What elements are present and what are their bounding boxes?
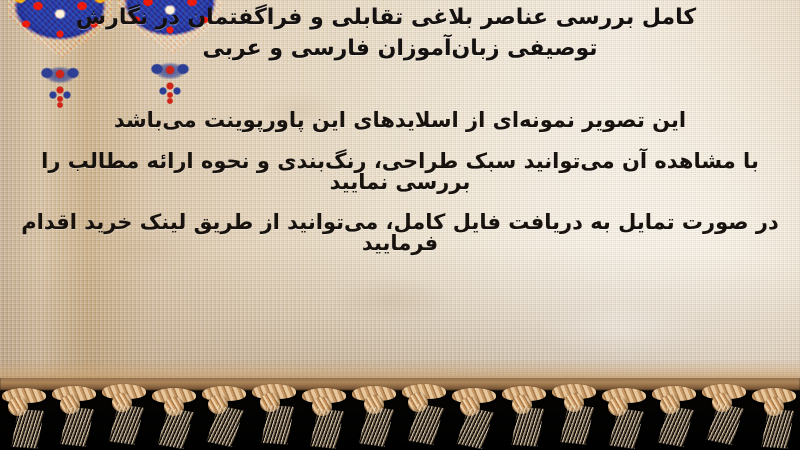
- slide-text-layer: کامل بررسی عناصر بلاغی تقابلی و فراگفتما…: [0, 0, 800, 450]
- slide-title-line-2: توصیفی زبان‌آموزان فارسی و عربی: [24, 33, 776, 64]
- slide-body: این تصویر نمونه‌ای از اسلایدهای این پاور…: [0, 110, 800, 254]
- slide-body-line-3: در صورت تمایل به دریافت فایل کامل، می‌تو…: [18, 212, 782, 254]
- slide-body-line-2: با مشاهده آن می‌توانید سبک طراحی، رنگ‌بن…: [18, 151, 782, 193]
- slide-title: کامل بررسی عناصر بلاغی تقابلی و فراگفتما…: [0, 2, 800, 64]
- slide-body-line-1: این تصویر نمونه‌ای از اسلایدهای این پاور…: [18, 110, 782, 131]
- slide-canvas: کامل بررسی عناصر بلاغی تقابلی و فراگفتما…: [0, 0, 800, 450]
- slide-title-line-1: کامل بررسی عناصر بلاغی تقابلی و فراگفتما…: [24, 2, 748, 33]
